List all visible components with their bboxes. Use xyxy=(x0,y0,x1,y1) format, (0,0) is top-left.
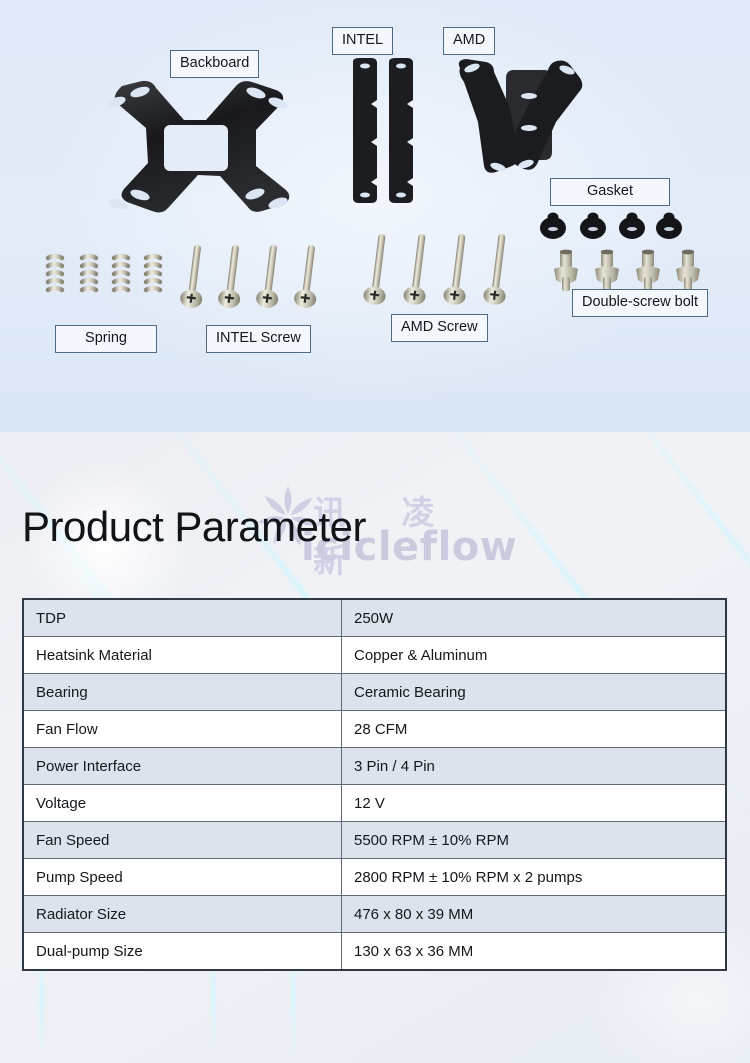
accessories-photo-panel: Backboard INTEL AMD Gasket Double-screw … xyxy=(0,0,750,432)
springs xyxy=(40,250,180,300)
product-detail-page: Backboard INTEL AMD Gasket Double-screw … xyxy=(0,0,750,1063)
label-intel: INTEL xyxy=(332,27,393,55)
label-backboard: Backboard xyxy=(170,50,259,78)
table-row: TDP 250W xyxy=(23,599,726,637)
table-row: Heatsink Material Copper & Aluminum xyxy=(23,637,726,674)
table-row: Dual-pump Size 130 x 63 x 36 MM xyxy=(23,933,726,971)
table-row: Power Interface 3 Pin / 4 Pin xyxy=(23,748,726,785)
table-row: Fan Flow 28 CFM xyxy=(23,711,726,748)
spec-key: Fan Speed xyxy=(23,822,342,859)
spec-value: 5500 RPM ± 10% RPM xyxy=(342,822,727,859)
label-double-screw-bolt: Double-screw bolt xyxy=(572,289,708,317)
spec-key: Dual-pump Size xyxy=(23,933,342,971)
spec-key: Voltage xyxy=(23,785,342,822)
spec-key: TDP xyxy=(23,599,342,637)
spec-key: Radiator Size xyxy=(23,896,342,933)
label-gasket: Gasket xyxy=(550,178,670,206)
spec-table-body: TDP 250W Heatsink Material Copper & Alum… xyxy=(23,599,726,970)
table-row: Radiator Size 476 x 80 x 39 MM xyxy=(23,896,726,933)
spec-key: Heatsink Material xyxy=(23,637,342,674)
spec-value: 250W xyxy=(342,599,727,637)
label-amd: AMD xyxy=(443,27,495,55)
spec-key: Pump Speed xyxy=(23,859,342,896)
spec-value: Copper & Aluminum xyxy=(342,637,727,674)
spec-value: 476 x 80 x 39 MM xyxy=(342,896,727,933)
backboard-bracket xyxy=(80,78,310,213)
amd-bracket-pair xyxy=(452,56,597,181)
spec-key: Fan Flow xyxy=(23,711,342,748)
table-row: Bearing Ceramic Bearing xyxy=(23,674,726,711)
label-spring: Spring xyxy=(55,325,157,353)
spec-key: Bearing xyxy=(23,674,342,711)
spec-value: 130 x 63 x 36 MM xyxy=(342,933,727,971)
intel-bracket-bars xyxy=(345,58,425,203)
table-row: Voltage 12 V xyxy=(23,785,726,822)
spec-value: 2800 RPM ± 10% RPM x 2 pumps xyxy=(342,859,727,896)
label-intel-screw: INTEL Screw xyxy=(206,325,311,353)
table-row: Pump Speed 2800 RPM ± 10% RPM x 2 pumps xyxy=(23,859,726,896)
table-row: Fan Speed 5500 RPM ± 10% RPM xyxy=(23,822,726,859)
gasket-washers xyxy=(535,212,685,244)
spec-value: 3 Pin / 4 Pin xyxy=(342,748,727,785)
spec-value: 28 CFM xyxy=(342,711,727,748)
spec-value: 12 V xyxy=(342,785,727,822)
page-title: Product Parameter xyxy=(22,506,366,548)
spec-value: Ceramic Bearing xyxy=(342,674,727,711)
product-parameter-table: TDP 250W Heatsink Material Copper & Alum… xyxy=(22,598,727,971)
label-amd-screw: AMD Screw xyxy=(391,314,488,342)
spec-key: Power Interface xyxy=(23,748,342,785)
amd-screws xyxy=(362,234,522,314)
product-parameter-panel: 讯 凌 新 icicleflow Product Parameter TDP 2… xyxy=(0,432,750,1063)
double-screw-bolts xyxy=(548,250,713,292)
intel-screws xyxy=(178,245,333,315)
